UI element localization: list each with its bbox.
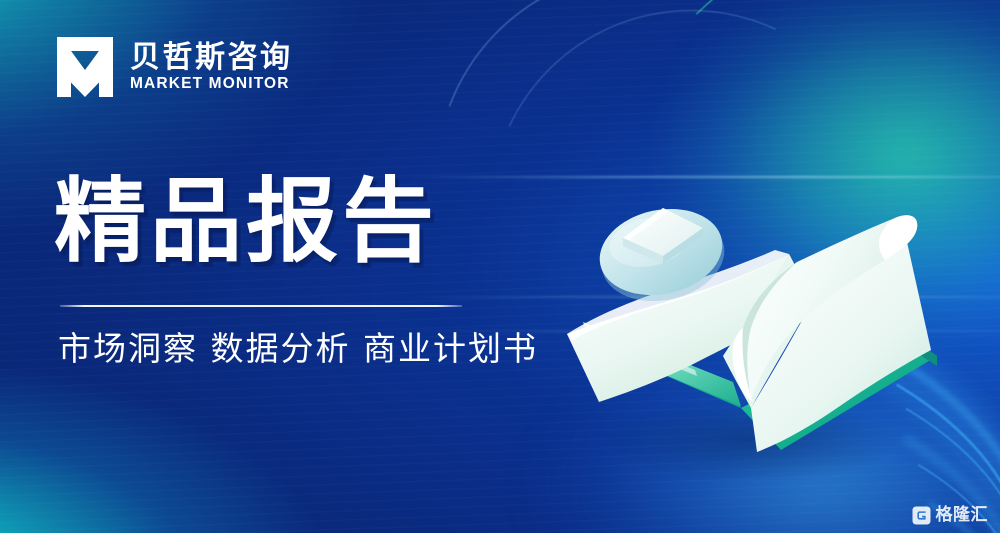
brand-name-cn: 贝哲斯咨询	[130, 42, 293, 74]
brand-name-en: MARKET MONITOR	[130, 76, 293, 92]
promo-banner: 贝哲斯咨询 MARKET MONITOR 精品报告 市场洞察 数据分析 商业计划…	[0, 0, 1000, 533]
brand-logo-text: 贝哲斯咨询 MARKET MONITOR	[130, 42, 293, 93]
open-book-illustration	[545, 150, 945, 480]
market-monitor-m-logo-icon	[54, 34, 116, 100]
gelonghui-g-logo-icon	[912, 506, 931, 525]
title-divider	[60, 305, 462, 307]
watermark-text: 格隆汇	[936, 507, 989, 524]
subtitle-tagline: 市场洞察 数据分析 商业计划书	[58, 328, 538, 369]
page-title: 精品报告	[54, 173, 438, 271]
brand-logo: 贝哲斯咨询 MARKET MONITOR	[54, 34, 293, 100]
watermark: 格隆汇	[912, 506, 989, 525]
